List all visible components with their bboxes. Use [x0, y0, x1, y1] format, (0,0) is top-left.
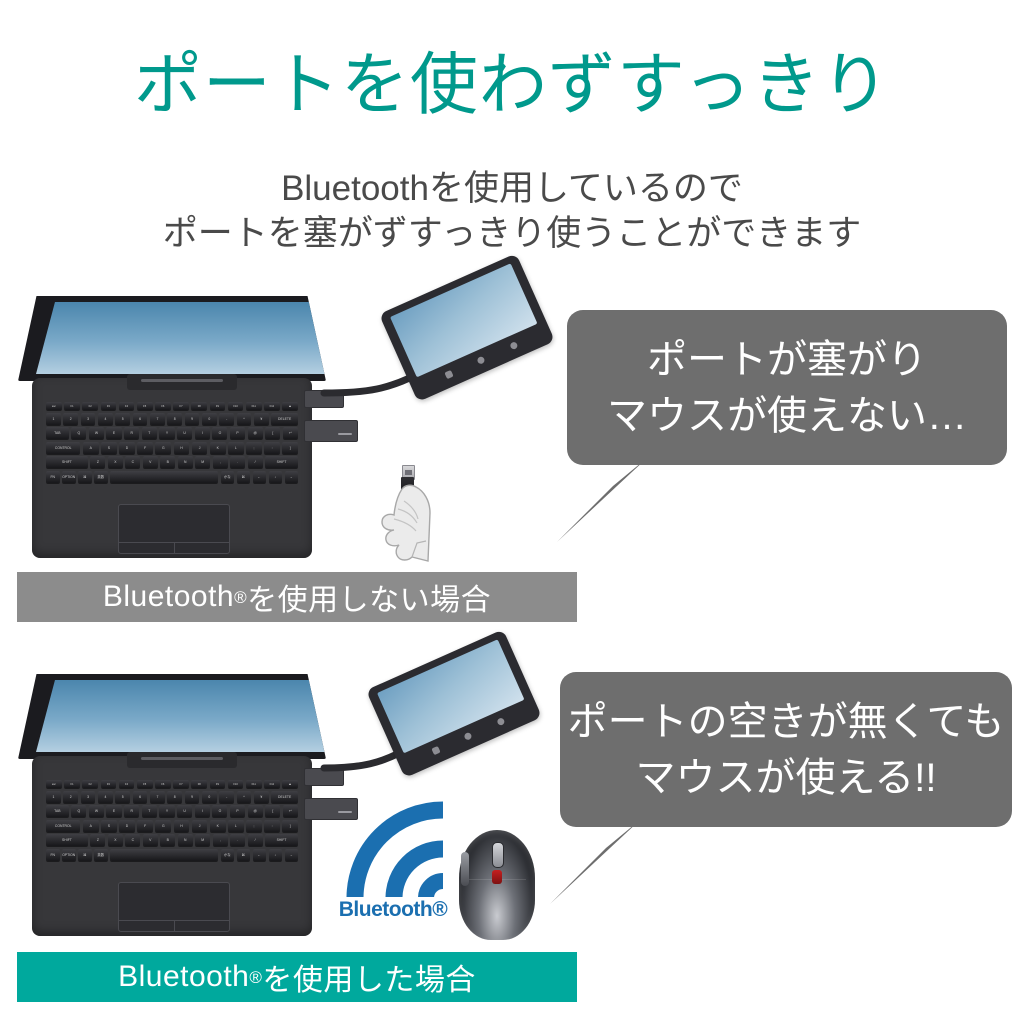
key: [ — [265, 805, 280, 817]
key: F — [137, 442, 153, 454]
key: ¥ — [254, 791, 269, 803]
key: 7 — [150, 413, 165, 425]
key: F5 — [137, 402, 153, 410]
bluetooth-wordmark: Bluetooth® — [333, 898, 453, 922]
smartphone-screen — [390, 263, 537, 377]
key: F11 — [246, 780, 262, 788]
key: A — [83, 820, 99, 832]
key: C — [125, 834, 140, 846]
key: → — [285, 849, 299, 861]
key: : — [264, 442, 280, 454]
key: W — [89, 427, 104, 439]
key: , — [213, 834, 228, 846]
key: ⌘ — [237, 471, 251, 483]
key: F8 — [191, 402, 207, 410]
speech-bubble-with-bluetooth: ポートの空きが無くても マウスが使える!! — [560, 672, 1012, 827]
smartphone — [405, 682, 555, 792]
laptop-trackpad — [118, 504, 230, 554]
key: SHIFT — [265, 834, 298, 846]
key: esc — [46, 402, 62, 410]
key: O — [212, 427, 227, 439]
key: O — [212, 805, 227, 817]
key: P — [230, 427, 245, 439]
key: P — [230, 805, 245, 817]
speech-bubble-tail — [548, 820, 658, 915]
keyboard-row-numbers: 1 2 3 4 5 6 7 8 9 0 - ^ ¥ DELETE — [46, 791, 298, 803]
key: R — [124, 805, 139, 817]
key: M — [195, 834, 210, 846]
key: F4 — [119, 402, 135, 410]
caption-label: Bluetooth — [118, 960, 249, 994]
keyboard-row-function: esc F1 F2 F3 F4 F5 F6 F7 F8 F9 F10 F11 F… — [46, 402, 298, 410]
mouse-body — [459, 830, 535, 940]
key: H — [174, 442, 190, 454]
key: F1 — [64, 780, 80, 788]
key: @ — [248, 805, 263, 817]
key: F3 — [101, 402, 117, 410]
key: S — [101, 820, 117, 832]
smartphone-screen — [377, 639, 524, 753]
key: / — [248, 456, 263, 468]
key: 4 — [98, 791, 113, 803]
key: かな — [221, 849, 235, 861]
key: B — [160, 834, 175, 846]
key: ] — [282, 442, 298, 454]
laptop-hinge — [127, 374, 237, 390]
keyboard-row-z: SHIFT Z X C V B N M , . / SHIFT — [46, 834, 298, 846]
key: TAB — [46, 427, 69, 439]
key: FN — [46, 849, 60, 861]
key: . — [230, 834, 245, 846]
smartphone-home-button — [464, 731, 473, 740]
key: ; — [246, 820, 262, 832]
key: 0 — [202, 413, 217, 425]
key: . — [230, 456, 245, 468]
laptop-lid — [18, 674, 326, 759]
key: T — [142, 427, 157, 439]
key: V — [143, 456, 158, 468]
key: F — [137, 820, 153, 832]
caption-label-tail: を使用した場合 — [262, 955, 476, 999]
hand-holding-usb-dongle — [368, 465, 463, 560]
key: 4 — [98, 413, 113, 425]
key: TAB — [46, 805, 69, 817]
key: D — [119, 820, 135, 832]
key: F10 — [228, 402, 244, 410]
keyboard-row-a: CONTROL A S D F G H J K L ; : ] — [46, 820, 298, 832]
speech-bubble-text: ポートが塞がり マウスが使えない… — [567, 310, 1007, 465]
laptop-screen — [36, 302, 328, 374]
key: CONTROL — [46, 442, 80, 454]
key: 3 — [81, 791, 96, 803]
key: F7 — [173, 402, 189, 410]
key: F12 — [264, 402, 280, 410]
caption-bar-without-bluetooth: Bluetooth®を使用しない場合 — [17, 572, 577, 622]
speech-bubble-without-bluetooth: ポートが塞がり マウスが使えない… — [567, 310, 1007, 465]
bluetooth-wireless-icon — [333, 792, 453, 897]
key: L — [228, 442, 244, 454]
subtitle-line-1: Bluetoothを使用しているので — [281, 169, 743, 208]
key: L — [228, 820, 244, 832]
laptop-keyboard: esc F1 F2 F3 F4 F5 F6 F7 F8 F9 F10 F11 F… — [46, 780, 298, 872]
key: ⌘ — [237, 849, 251, 861]
key-space — [110, 849, 218, 861]
laptop-base: esc F1 F2 F3 F4 F5 F6 F7 F8 F9 F10 F11 F… — [32, 378, 312, 558]
bubble-line-2: マウスが使えない… — [607, 388, 967, 444]
keyboard-row-q: TAB Q W E R T Y U I O P @ [ ↵ — [46, 805, 298, 817]
key: W — [89, 805, 104, 817]
bubble-line-1: ポートが塞がり — [647, 332, 927, 388]
key: U — [177, 427, 192, 439]
key: X — [108, 456, 123, 468]
registered-mark: ® — [234, 589, 247, 606]
key: F7 — [173, 780, 189, 788]
key: Y — [159, 805, 174, 817]
key: F6 — [155, 780, 171, 788]
key: FN — [46, 471, 60, 483]
laptop-trackpad — [118, 882, 230, 932]
mouse-side-button — [461, 852, 469, 886]
key: Q — [71, 427, 86, 439]
key: , — [213, 456, 228, 468]
speech-bubble-tail — [555, 458, 665, 553]
key: F9 — [210, 402, 226, 410]
mouse-scroll-wheel — [492, 842, 504, 868]
key: G — [155, 442, 171, 454]
key: - — [219, 413, 234, 425]
key: D — [119, 442, 135, 454]
smartphone-menu-button — [496, 717, 505, 726]
keyboard-row-numbers: 1 2 3 4 5 6 7 8 9 0 - ^ ¥ DELETE — [46, 413, 298, 425]
key: 1 — [46, 791, 61, 803]
key: ^ — [237, 413, 252, 425]
bluetooth-logo: Bluetooth® — [333, 792, 453, 922]
key: K — [210, 820, 226, 832]
wireless-mouse — [459, 830, 535, 940]
key: 8 — [167, 791, 182, 803]
key: ← — [253, 849, 267, 861]
key: Y — [159, 427, 174, 439]
key: ; — [246, 442, 262, 454]
key: @ — [248, 427, 263, 439]
mouse-accent-button — [492, 870, 502, 884]
key: 2 — [63, 791, 78, 803]
laptop-lid — [18, 296, 326, 381]
key: esc — [46, 780, 62, 788]
keyboard-row-bottom: FN OPTION ⌘ 英数 かな ⌘ ← ↓ → — [46, 849, 298, 861]
key: Q — [71, 805, 86, 817]
page-subtitle: Bluetoothを使用しているので ポートを塞がずすっきり使うことができます — [0, 166, 1024, 256]
poster-root: ポートを使わずすっきり Bluetoothを使用しているので ポートを塞がずすっ… — [0, 0, 1024, 1024]
key: 英数 — [94, 849, 108, 861]
page-title: ポートを使わずすっきり — [0, 46, 1024, 124]
key: F5 — [137, 780, 153, 788]
smartphone-back-button — [444, 369, 453, 378]
key: SHIFT — [46, 834, 88, 846]
key: ↵ — [283, 427, 298, 439]
keyboard-row-q: TAB Q W E R T Y U I O P @ [ ↵ — [46, 427, 298, 439]
key: CONTROL — [46, 820, 80, 832]
key: 6 — [133, 413, 148, 425]
key: Z — [90, 456, 105, 468]
key: ↓ — [269, 471, 283, 483]
key: → — [285, 471, 299, 483]
key: S — [101, 442, 117, 454]
key: DELETE — [271, 791, 298, 803]
smartphone — [418, 306, 568, 416]
key: 3 — [81, 413, 96, 425]
key: T — [142, 805, 157, 817]
key: F12 — [264, 780, 280, 788]
caption-label: Bluetooth — [103, 580, 234, 614]
key: E — [106, 805, 121, 817]
keyboard-row-function: esc F1 F2 F3 F4 F5 F6 F7 F8 F9 F10 F11 F… — [46, 780, 298, 788]
key: ↓ — [269, 849, 283, 861]
key: F4 — [119, 780, 135, 788]
key: C — [125, 456, 140, 468]
key: ¥ — [254, 413, 269, 425]
key: / — [248, 834, 263, 846]
smartphone-back-button — [431, 745, 440, 754]
key: N — [178, 456, 193, 468]
key: B — [160, 456, 175, 468]
bubble-line-2: マウスが使える!! — [635, 750, 936, 806]
smartphone-home-button — [477, 355, 486, 364]
key: F11 — [246, 402, 262, 410]
keyboard-row-a: CONTROL A S D F G H J K L ; : ] — [46, 442, 298, 454]
key: K — [210, 442, 226, 454]
key: OPTION — [62, 849, 76, 861]
laptop-base: esc F1 F2 F3 F4 F5 F6 F7 F8 F9 F10 F11 F… — [32, 756, 312, 936]
key: かな — [221, 471, 235, 483]
usb-flash-drive — [304, 420, 358, 442]
key: F3 — [101, 780, 117, 788]
key: ] — [282, 820, 298, 832]
key: I — [195, 427, 210, 439]
key: 6 — [133, 791, 148, 803]
key: F2 — [82, 402, 98, 410]
key: M — [195, 456, 210, 468]
key: - — [219, 791, 234, 803]
speech-bubble-text: ポートの空きが無くても マウスが使える!! — [560, 672, 1012, 827]
keyboard-row-bottom: FN OPTION ⌘ 英数 かな ⌘ ← ↓ → — [46, 471, 298, 483]
laptop-without-bluetooth: esc F1 F2 F3 F4 F5 F6 F7 F8 F9 F10 F11 F… — [8, 296, 338, 581]
key: G — [155, 820, 171, 832]
key: 1 — [46, 413, 61, 425]
laptop-with-bluetooth: esc F1 F2 F3 F4 F5 F6 F7 F8 F9 F10 F11 F… — [8, 674, 338, 959]
key: ⏏ — [282, 780, 298, 788]
key: DELETE — [271, 413, 298, 425]
caption-bar-with-bluetooth: Bluetooth®を使用した場合 — [17, 952, 577, 1002]
key: J — [192, 442, 208, 454]
key: F6 — [155, 402, 171, 410]
key: SHIFT — [46, 456, 88, 468]
key: [ — [265, 427, 280, 439]
key-space — [110, 471, 218, 483]
key: 5 — [115, 413, 130, 425]
key: H — [174, 820, 190, 832]
key: E — [106, 427, 121, 439]
key: A — [83, 442, 99, 454]
key: 9 — [185, 791, 200, 803]
key: N — [178, 834, 193, 846]
key: 8 — [167, 413, 182, 425]
smartphone-menu-button — [509, 341, 518, 350]
key: ^ — [237, 791, 252, 803]
key: ⌘ — [78, 849, 92, 861]
subtitle-line-2: ポートを塞がずすっきり使うことができます — [0, 211, 1024, 256]
key: ↵ — [283, 805, 298, 817]
key: F10 — [228, 780, 244, 788]
key: 9 — [185, 413, 200, 425]
registered-mark: ® — [249, 969, 262, 986]
key: 英数 — [94, 471, 108, 483]
key: : — [264, 820, 280, 832]
key: F2 — [82, 780, 98, 788]
key: X — [108, 834, 123, 846]
key: SHIFT — [265, 456, 298, 468]
key: 2 — [63, 413, 78, 425]
laptop-hinge — [127, 752, 237, 768]
key: F8 — [191, 780, 207, 788]
key: OPTION — [62, 471, 76, 483]
key: 0 — [202, 791, 217, 803]
key: 5 — [115, 791, 130, 803]
key: V — [143, 834, 158, 846]
hand-illustration — [368, 483, 463, 563]
key: F1 — [64, 402, 80, 410]
key: ⌘ — [78, 471, 92, 483]
key: Z — [90, 834, 105, 846]
bubble-line-1: ポートの空きが無くても — [568, 694, 1005, 750]
keyboard-row-z: SHIFT Z X C V B N M , . / SHIFT — [46, 456, 298, 468]
caption-label-tail: を使用しない場合 — [247, 575, 491, 619]
key: I — [195, 805, 210, 817]
key: ⏏ — [282, 402, 298, 410]
laptop-screen — [36, 680, 328, 752]
key: J — [192, 820, 208, 832]
key: 7 — [150, 791, 165, 803]
key: ← — [253, 471, 267, 483]
laptop-keyboard: esc F1 F2 F3 F4 F5 F6 F7 F8 F9 F10 F11 F… — [46, 402, 298, 494]
key: R — [124, 427, 139, 439]
key: F9 — [210, 780, 226, 788]
key: U — [177, 805, 192, 817]
